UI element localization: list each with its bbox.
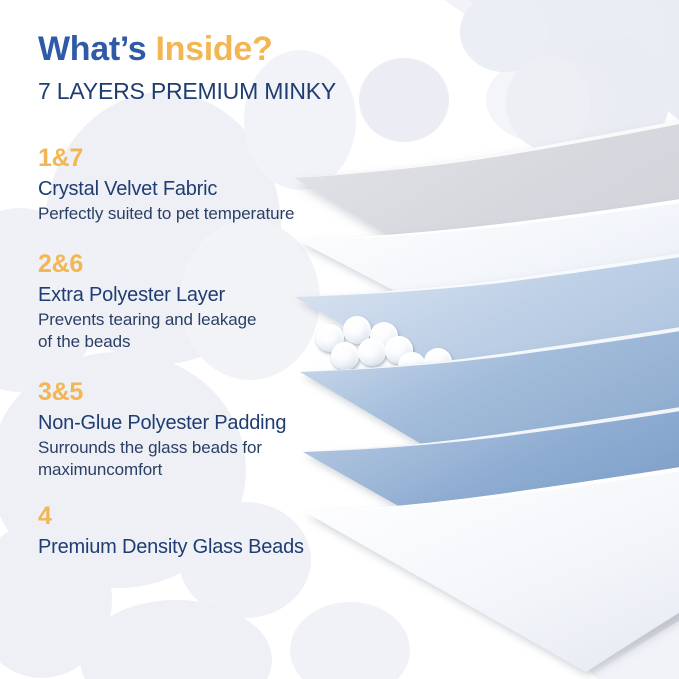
text-column: What’s Inside? 7 LAYERS PREMIUM MINKY 1&… — [0, 0, 330, 679]
layer-number: 1&7 — [38, 146, 294, 171]
sheet-crystal-velvet-bottom — [305, 464, 679, 678]
layer-description-line: of the beads — [38, 331, 256, 353]
layer-heading: Crystal Velvet Fabric — [38, 177, 294, 202]
layer-heading: Non-Glue Polyester Padding — [38, 411, 286, 436]
layer-heading: Premium Density Glass Beads — [38, 535, 304, 560]
layer-description-line: Perfectly suited to pet temperature — [38, 203, 294, 225]
layer-number: 2&6 — [38, 252, 256, 277]
page-title-part-one: What’s — [38, 30, 156, 68]
layer-block-1: 1&7 Crystal Velvet Fabric Perfectly suit… — [38, 146, 294, 225]
infographic-canvas: What’s Inside? 7 LAYERS PREMIUM MINKY 1&… — [0, 0, 679, 679]
page-title: What’s Inside? — [38, 30, 272, 69]
layer-block-3: 3&5 Non-Glue Polyester Padding Surrounds… — [38, 380, 286, 481]
page-subtitle: 7 LAYERS PREMIUM MINKY — [38, 78, 336, 105]
page-title-part-two: Inside? — [156, 30, 273, 68]
layer-block-4: 4 Premium Density Glass Beads — [38, 504, 304, 560]
layer-number: 3&5 — [38, 380, 286, 405]
layer-description-line: Prevents tearing and leakage — [38, 309, 256, 331]
layer-description: Perfectly suited to pet temperature — [38, 203, 294, 225]
layer-block-2: 2&6 Extra Polyester Layer Prevents teari… — [38, 252, 256, 353]
layer-heading: Extra Polyester Layer — [38, 283, 256, 308]
layer-number: 4 — [38, 504, 304, 529]
layer-description: Prevents tearing and leakage of the bead… — [38, 309, 256, 353]
layer-description: Surrounds the glass beads for maximuncom… — [38, 437, 286, 481]
layer-description-line: Surrounds the glass beads for — [38, 437, 286, 459]
layer-description-line: maximuncomfort — [38, 459, 286, 481]
